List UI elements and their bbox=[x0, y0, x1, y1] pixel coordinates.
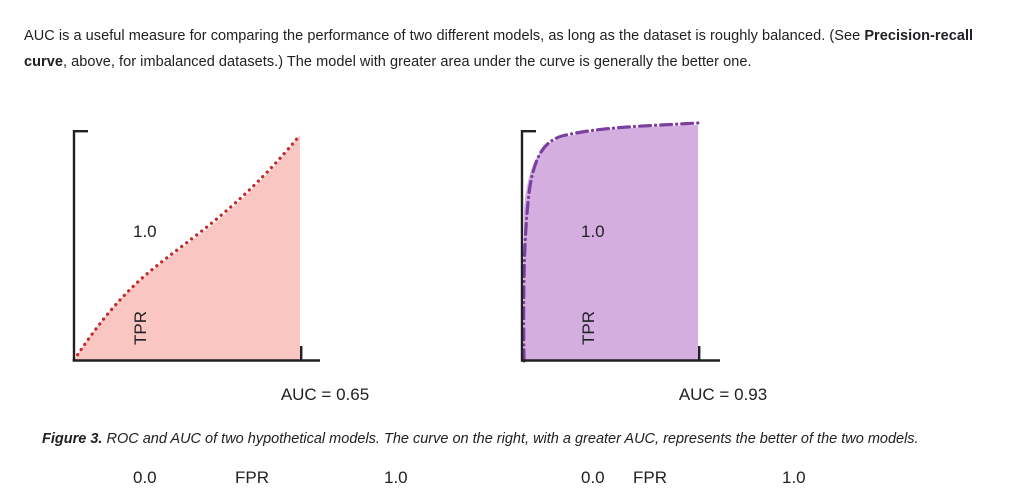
roc-right-xtick-label-0: 0.0 bbox=[581, 468, 605, 488]
roc-left-y-axis-label: TPR bbox=[131, 311, 151, 345]
roc-right-ytick-label-1: 1.0 bbox=[581, 222, 605, 242]
roc-left-plot bbox=[0, 100, 450, 400]
roc-right-xtick-label-1: 1.0 bbox=[782, 468, 806, 488]
roc-right-plot bbox=[450, 100, 900, 400]
figure-caption: Figure 3. ROC and AUC of two hypothetica… bbox=[42, 427, 982, 451]
figure-caption-label: Figure 3. bbox=[42, 431, 102, 447]
roc-right-auc-annotation: AUC = 0.93 bbox=[679, 385, 767, 405]
figure-caption-text: ROC and AUC of two hypothetical models. … bbox=[102, 431, 918, 447]
roc-right-y-axis-label: TPR bbox=[579, 311, 599, 345]
roc-right-area bbox=[524, 125, 698, 360]
figure-charts-row: 1.0 0.0 1.0 FPR TPR AUC = 0.65 1.0 0.0 1… bbox=[0, 100, 1010, 400]
roc-left-xtick-label-1: 1.0 bbox=[384, 468, 408, 488]
intro-paragraph: AUC is a useful measure for comparing th… bbox=[24, 23, 986, 75]
roc-chart-right: 1.0 0.0 1.0 FPR TPR AUC = 0.93 bbox=[450, 100, 900, 400]
intro-text-part2: , above, for imbalanced datasets.) The m… bbox=[63, 54, 752, 70]
roc-left-auc-annotation: AUC = 0.65 bbox=[281, 385, 369, 405]
intro-text-part1: AUC is a useful measure for comparing th… bbox=[24, 28, 864, 44]
roc-left-ytick-label-1: 1.0 bbox=[133, 222, 157, 242]
roc-right-x-axis-label: FPR bbox=[633, 468, 667, 488]
roc-left-x-axis-label: FPR bbox=[235, 468, 269, 488]
roc-left-xtick-label-0: 0.0 bbox=[133, 468, 157, 488]
roc-left-area bbox=[74, 135, 300, 360]
roc-chart-left: 1.0 0.0 1.0 FPR TPR AUC = 0.65 bbox=[0, 100, 450, 400]
